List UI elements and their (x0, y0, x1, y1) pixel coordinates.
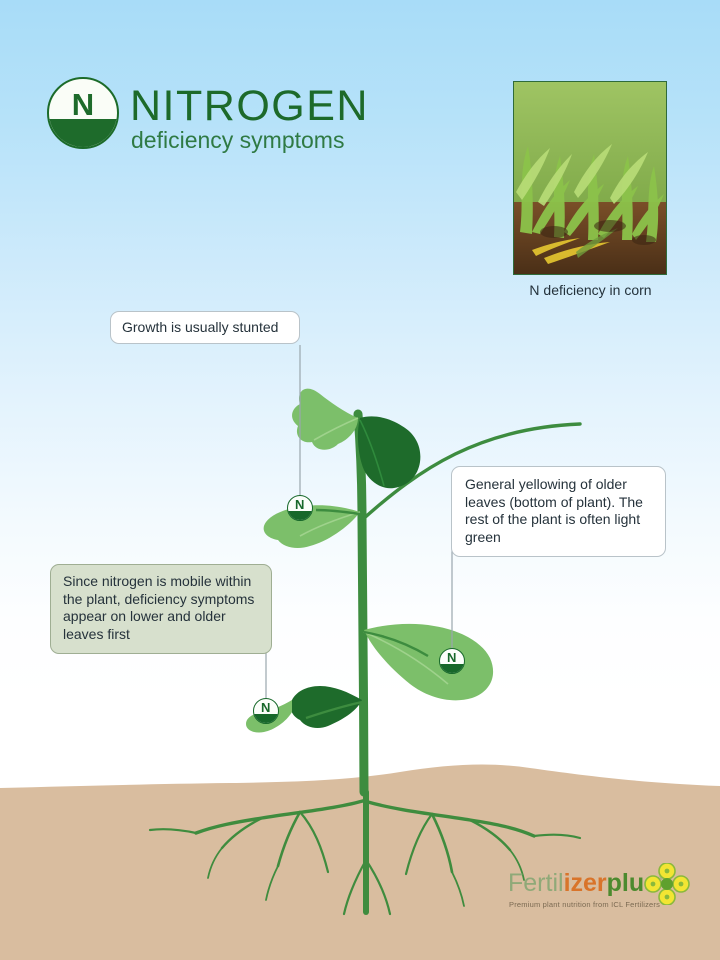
brand-part-izer: izer (564, 869, 607, 897)
callout-mobile-text: Since nitrogen is mobile within the plan… (63, 573, 254, 642)
leaf-top-right (358, 416, 420, 488)
marker-bottom-half (439, 664, 465, 674)
callout-nitrogen-mobile: Since nitrogen is mobile within the plan… (50, 564, 272, 654)
corn-photo-art (514, 82, 666, 274)
marker-right: N (439, 648, 465, 674)
callout-yellowing-text: General yellowing of older leaves (botto… (465, 476, 643, 545)
leaf-right-mid (364, 624, 493, 700)
marker-letter: N (288, 497, 312, 512)
marker-upper-left: N (287, 495, 313, 521)
marker-letter: N (254, 700, 278, 715)
corn-photo (513, 81, 667, 275)
page-title: NITROGEN (130, 82, 369, 131)
brand-part-il: il (552, 869, 563, 897)
callout-general-yellowing: General yellowing of older leaves (botto… (451, 466, 666, 557)
nitrogen-logo-icon: N (47, 77, 119, 149)
fertilizerplus-logo: Fertilizerplus® Premium plant nutrition … (508, 869, 698, 927)
logo-bottom-half (47, 119, 119, 149)
brand-part-fert: Fert (508, 869, 552, 897)
marker-bottom-half (287, 511, 313, 521)
callout-growth-stunted: Growth is usually stunted (110, 311, 300, 344)
brand-tagline: Premium plant nutrition from ICL Fertili… (509, 900, 660, 909)
page-subtitle: deficiency symptoms (131, 127, 344, 154)
brand-wordmark: Fertilizerplus® (508, 869, 664, 898)
leaf-top-left (292, 389, 358, 450)
marker-bottom-half (253, 714, 279, 724)
marker-lower-left: N (253, 698, 279, 724)
plant-stem (358, 414, 364, 792)
four-petal-flower-icon (644, 863, 690, 905)
marker-letter: N (440, 650, 464, 665)
logo-letter: N (49, 87, 117, 123)
photo-caption: N deficiency in corn (443, 282, 720, 298)
infographic-poster: N NITROGEN deficiency symptoms (0, 0, 720, 960)
callout-stunted-text: Growth is usually stunted (122, 319, 278, 335)
